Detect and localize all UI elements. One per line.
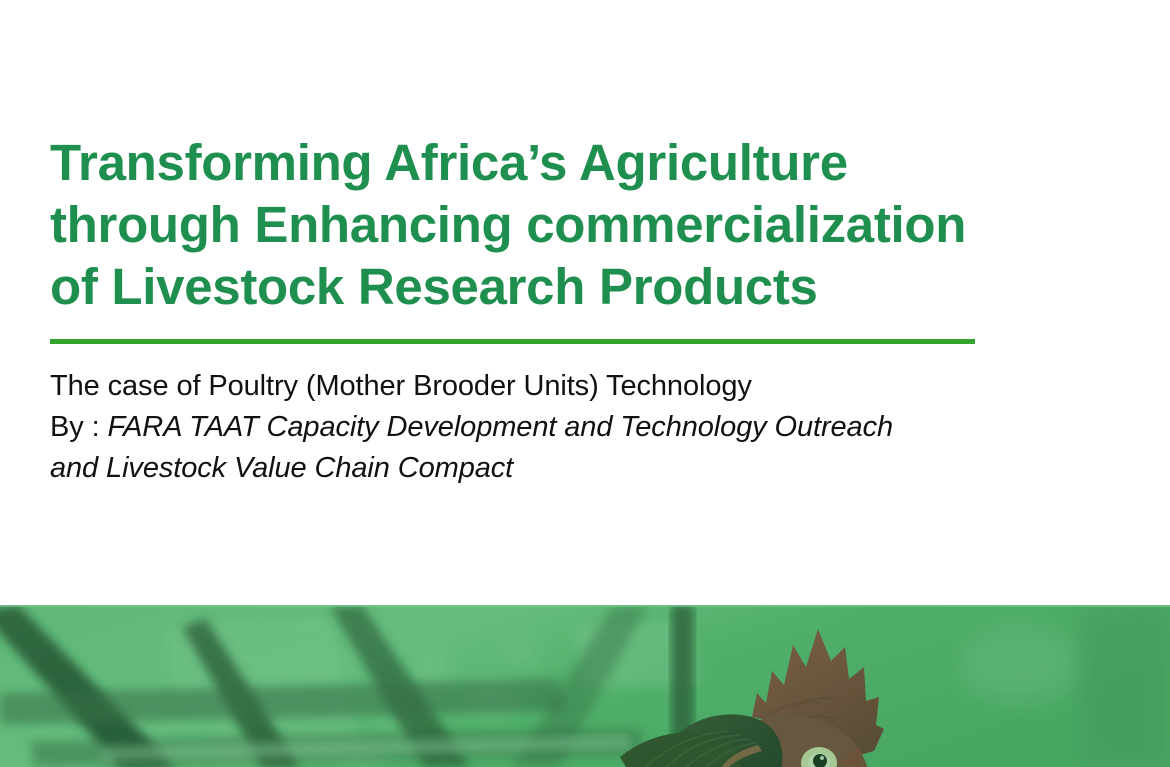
title-line-3: of Livestock Research Products bbox=[50, 256, 1130, 318]
title-divider bbox=[50, 339, 975, 344]
slide-root: Transforming Africa’s Agriculture throug… bbox=[0, 0, 1170, 767]
byline-line-1: By : FARA TAAT Capacity Development and … bbox=[50, 407, 1130, 448]
page-title: Transforming Africa’s Agriculture throug… bbox=[50, 132, 1130, 318]
title-line-2: through Enhancing commercialization bbox=[50, 194, 1130, 256]
title-line-1: Transforming Africa’s Agriculture bbox=[50, 132, 1130, 194]
byline-value-line-1: FARA TAAT Capacity Development and Techn… bbox=[108, 411, 894, 443]
rooster-coop-illustration bbox=[0, 605, 1170, 767]
title-content-block: Transforming Africa’s Agriculture throug… bbox=[50, 132, 1130, 489]
subtitle-block: The case of Poultry (Mother Brooder Unit… bbox=[50, 366, 1130, 489]
byline-line-2: and Livestock Value Chain Compact bbox=[50, 448, 1130, 489]
subtitle-case-line: The case of Poultry (Mother Brooder Unit… bbox=[50, 366, 1130, 407]
byline-label: By : bbox=[50, 411, 108, 443]
rooster-coop-photo bbox=[0, 605, 1170, 767]
